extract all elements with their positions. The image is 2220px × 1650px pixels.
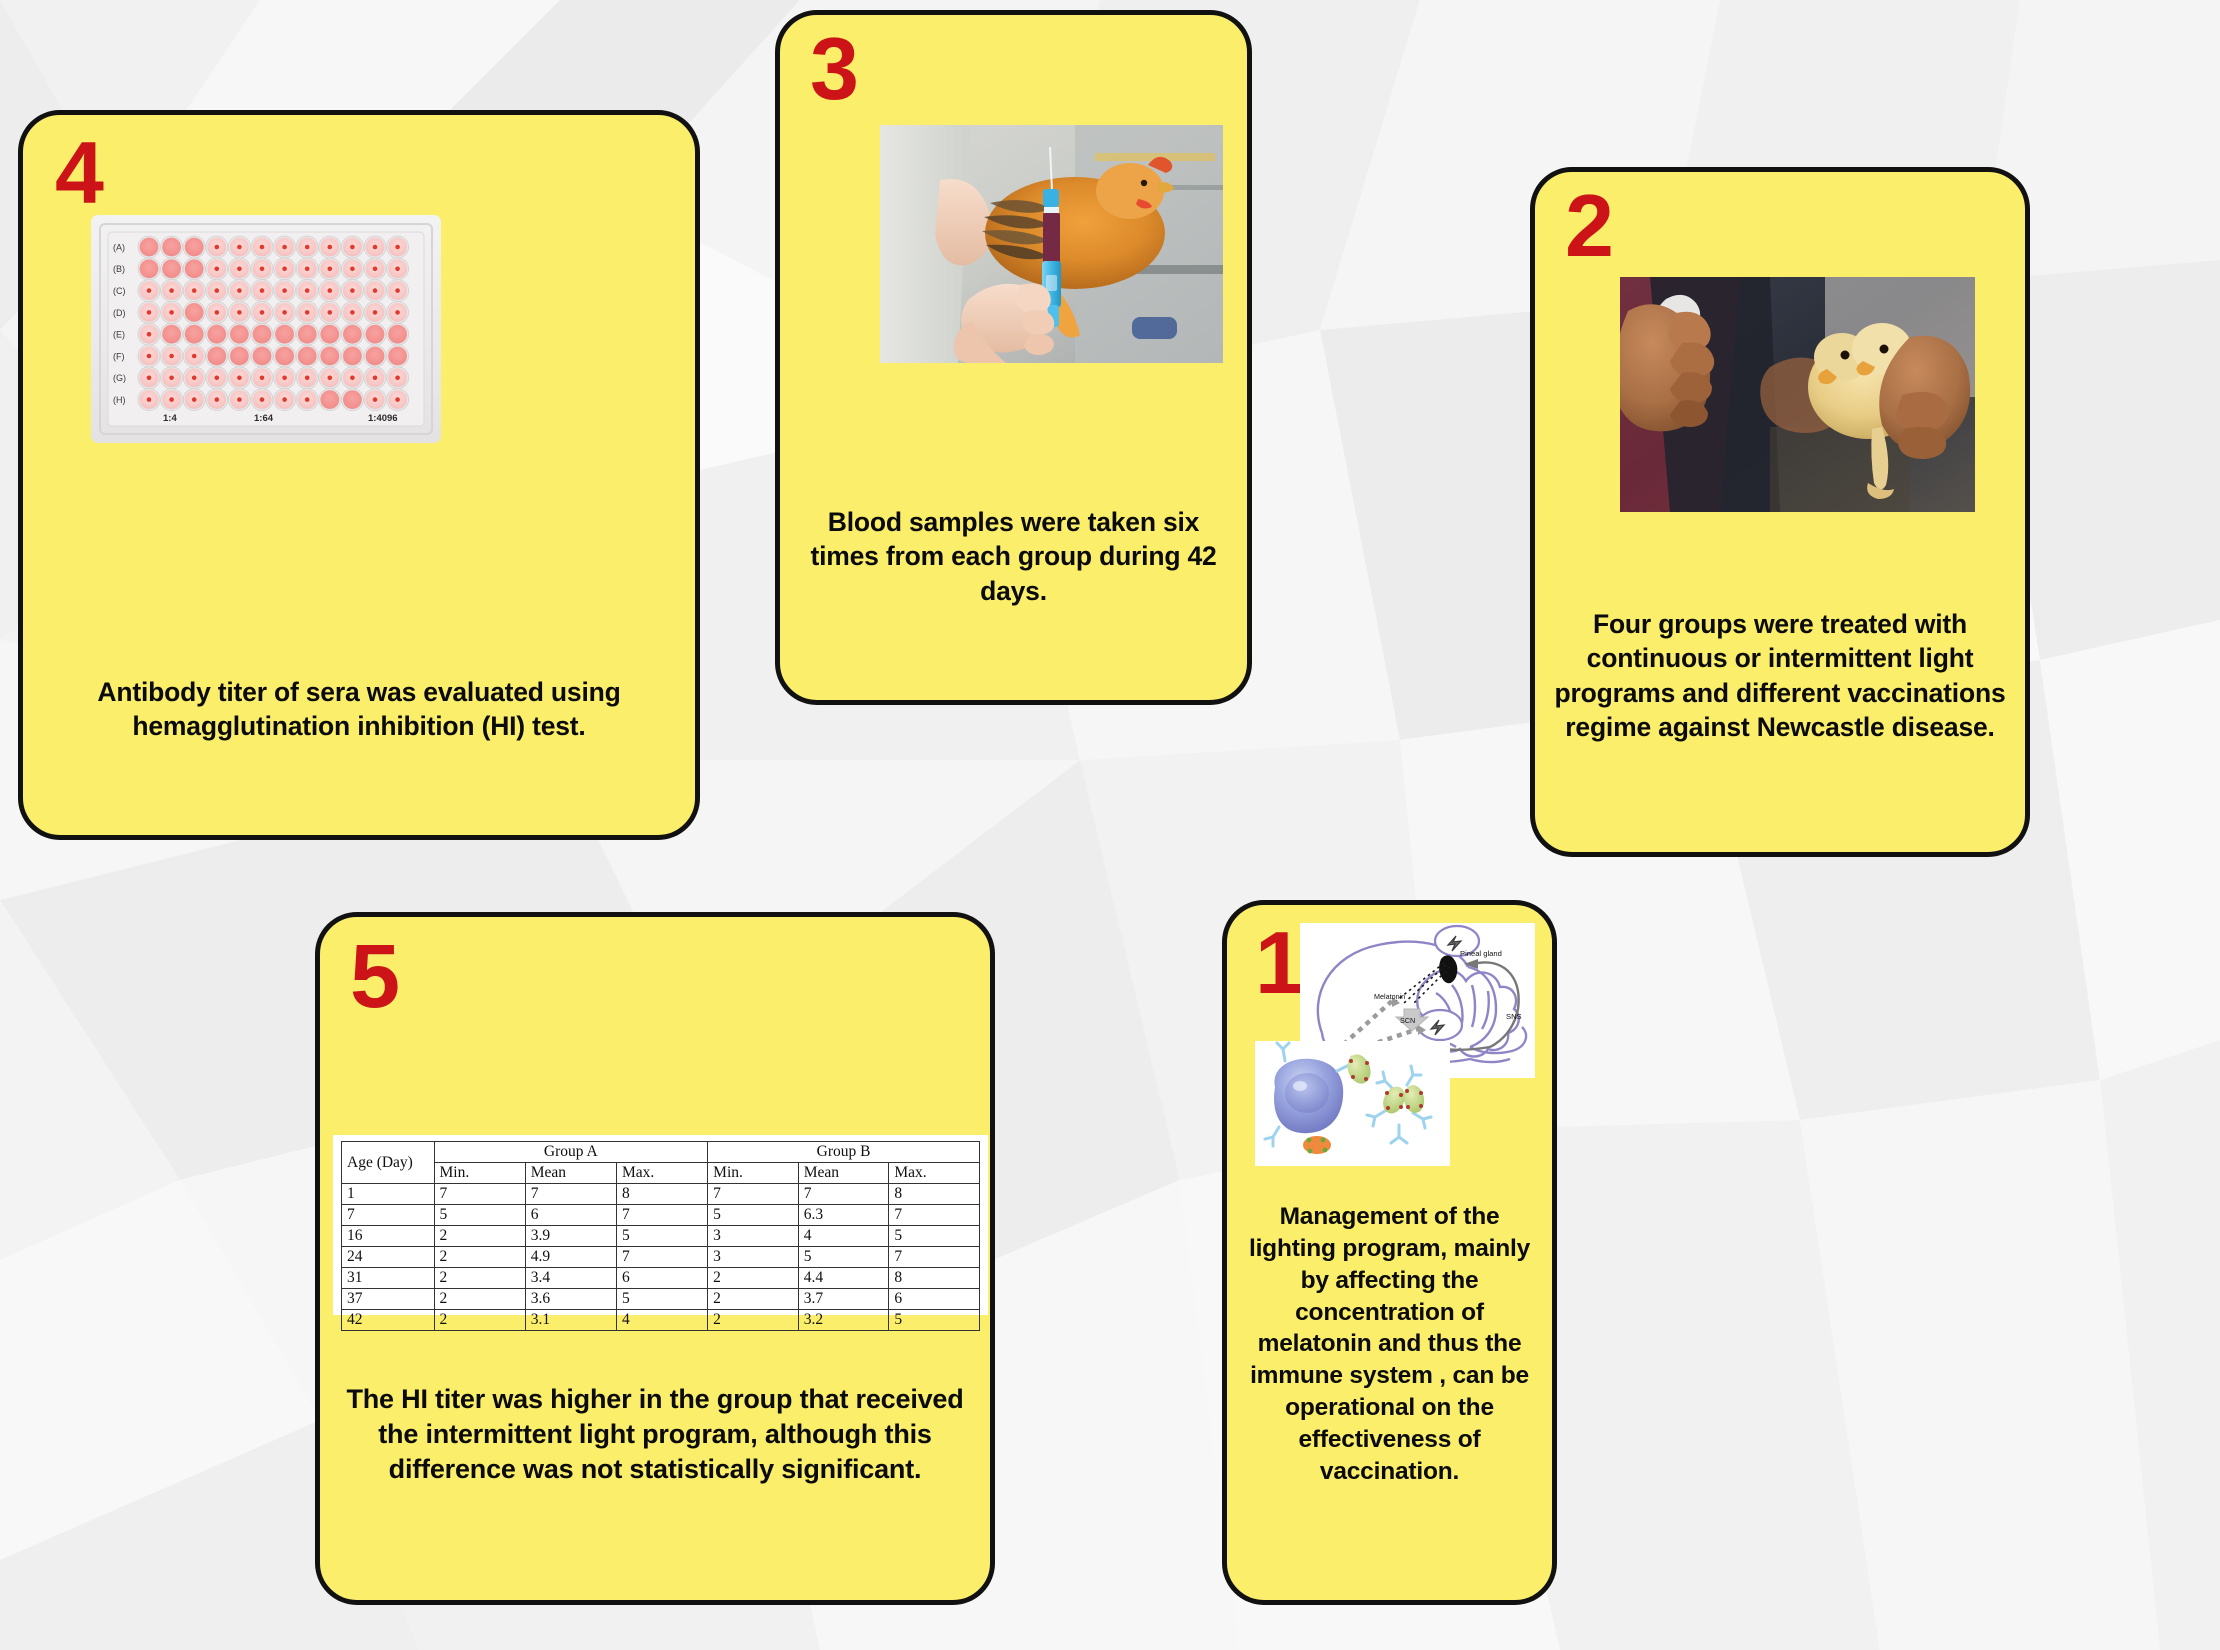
cell-a-mean: 3.1 <box>525 1310 616 1331</box>
plate-well-button <box>260 267 265 272</box>
cell-age: 1 <box>342 1184 435 1205</box>
cell-a-mean: 4.9 <box>525 1247 616 1268</box>
cell-b-min: 5 <box>708 1205 799 1226</box>
plate-row-label: (A) <box>113 242 125 252</box>
plate-well <box>207 325 226 344</box>
cell-b-mean: 6.3 <box>798 1205 889 1226</box>
card-5-caption: The HI titer was higher in the group tha… <box>320 1382 990 1487</box>
hi-titer-table-container: Age (Day) Group A Group B Min. Mean Max.… <box>333 1135 988 1315</box>
cell-b-mean: 3.7 <box>798 1289 889 1310</box>
cell-b-mean: 4 <box>798 1226 889 1247</box>
plate-well-button <box>373 310 378 315</box>
header-b-max: Max. <box>889 1163 980 1184</box>
cell-a-min: 5 <box>434 1205 525 1226</box>
plate-well-button <box>169 288 174 293</box>
plate-well-button <box>260 376 265 381</box>
cell-b-max: 6 <box>889 1289 980 1310</box>
plate-well-button <box>328 310 333 315</box>
plate-row-label: (B) <box>113 264 125 274</box>
plate-well-button <box>395 397 400 402</box>
plate-well <box>253 325 272 344</box>
cell-b-min: 2 <box>708 1310 799 1331</box>
plate-well-button <box>237 397 242 402</box>
plate-row-label: (E) <box>113 330 125 340</box>
card-4-caption: Antibody titer of sera was evaluated usi… <box>23 675 695 744</box>
cell-b-min: 3 <box>708 1247 799 1268</box>
plate-well-button <box>328 245 333 250</box>
plate-well <box>343 347 362 366</box>
cell-a-max: 5 <box>616 1226 707 1247</box>
cell-b-max: 7 <box>889 1205 980 1226</box>
plate-well-button <box>305 310 310 315</box>
cell-b-max: 7 <box>889 1247 980 1268</box>
card-3-caption: Blood samples were taken six times from … <box>780 505 1247 608</box>
plate-well-button <box>373 288 378 293</box>
plate-well-button <box>282 310 287 315</box>
plate-well-button <box>350 245 355 250</box>
card-number-1: 1 <box>1255 923 1304 1002</box>
plate-well-button <box>282 288 287 293</box>
plate-well <box>275 347 294 366</box>
plate-well-button <box>350 310 355 315</box>
plate-well <box>185 238 204 257</box>
cell-b-mean: 5 <box>798 1247 889 1268</box>
plate-well <box>320 390 339 409</box>
cell-a-min: 2 <box>434 1247 525 1268</box>
cell-a-min: 7 <box>434 1184 525 1205</box>
plate-well <box>343 390 362 409</box>
plate-well-button <box>350 267 355 272</box>
plate-well-button <box>147 354 152 359</box>
plate-well-button <box>147 310 152 315</box>
plate-well-button <box>215 310 220 315</box>
plate-well <box>162 238 181 257</box>
plate-well <box>343 325 362 344</box>
card-1-melatonin-pathway: 1 <box>1222 900 1557 1605</box>
cell-age: 37 <box>342 1289 435 1310</box>
plate-dilution-left: 1:4 <box>163 413 177 424</box>
plate-well <box>185 303 204 322</box>
plate-well <box>298 325 317 344</box>
header-a-min: Min. <box>434 1163 525 1184</box>
plate-well-button <box>305 397 310 402</box>
plate-well-button <box>169 354 174 359</box>
cell-a-mean: 7 <box>525 1184 616 1205</box>
plate-well-button <box>215 288 220 293</box>
plate-well-button <box>237 288 242 293</box>
card-1-caption: Management of the lighting program, main… <box>1227 1201 1552 1488</box>
label-scn: SCN <box>1400 1016 1415 1025</box>
card-3-blood-sampling: 3 <box>775 10 1252 705</box>
cell-a-mean: 6 <box>525 1205 616 1226</box>
plate-well-button <box>305 376 310 381</box>
plate-well-button <box>305 267 310 272</box>
card-number-3: 3 <box>810 29 859 108</box>
plate-row-label: (G) <box>113 373 126 383</box>
plate-well-button <box>305 245 310 250</box>
plate-well-button <box>305 288 310 293</box>
plate-well-button <box>237 267 242 272</box>
label-pineal-gland: Pineal gland <box>1460 949 1502 958</box>
plate-dilution-right: 1:4096 <box>368 413 398 424</box>
plate-well-button <box>215 245 220 250</box>
cell-b-min: 7 <box>708 1184 799 1205</box>
plate-well <box>388 325 407 344</box>
plate-well-button <box>395 267 400 272</box>
cell-b-min: 3 <box>708 1226 799 1247</box>
cell-a-mean: 3.6 <box>525 1289 616 1310</box>
header-group-a: Group A <box>434 1142 708 1163</box>
plate-well <box>185 325 204 344</box>
table-row: 756756.37 <box>342 1205 980 1226</box>
plate-well <box>230 325 249 344</box>
plate-well <box>320 347 339 366</box>
plate-well-button <box>282 376 287 381</box>
plate-well-button <box>147 397 152 402</box>
table-row: 2424.97357 <box>342 1247 980 1268</box>
plate-well-button <box>282 267 287 272</box>
cell-a-max: 4 <box>616 1310 707 1331</box>
table-row: 3123.4624.48 <box>342 1268 980 1289</box>
cell-age: 24 <box>342 1247 435 1268</box>
plate-well <box>162 259 181 278</box>
cell-age: 31 <box>342 1268 435 1289</box>
plate-well-button <box>328 267 333 272</box>
plate-well-button <box>169 397 174 402</box>
lymphocyte-cell <box>1274 1059 1343 1133</box>
cell-b-max: 8 <box>889 1268 980 1289</box>
table-row: 1623.95345 <box>342 1226 980 1247</box>
label-melatonin: Melatonin <box>1374 992 1405 1001</box>
plate-well-button <box>192 397 197 402</box>
plate-well-button <box>395 245 400 250</box>
card-5-results: 5 Age (Day) Group A Group B Min. Mean Ma… <box>315 912 995 1605</box>
cell-a-min: 2 <box>434 1268 525 1289</box>
blood-sampling-chicken-photo <box>880 125 1223 363</box>
cell-b-mean: 7 <box>798 1184 889 1205</box>
cell-age: 42 <box>342 1310 435 1331</box>
plate-well <box>388 347 407 366</box>
hi-titer-table: Age (Day) Group A Group B Min. Mean Max.… <box>341 1141 980 1331</box>
plate-well-button <box>192 288 197 293</box>
table-header-row-groups: Age (Day) Group A Group B <box>342 1142 980 1163</box>
plate-well <box>162 325 181 344</box>
plate-well <box>140 259 159 278</box>
plate-well-button <box>237 376 242 381</box>
header-age: Age (Day) <box>342 1142 435 1184</box>
cell-a-min: 2 <box>434 1310 525 1331</box>
table-header-row-sub: Min. Mean Max. Min. Mean Max. <box>342 1163 980 1184</box>
chick-eye-drop-vaccination-photo <box>1620 277 1975 512</box>
plate-dilution-middle: 1:64 <box>254 413 274 424</box>
cell-a-max: 7 <box>616 1247 707 1268</box>
plate-well-button <box>260 245 265 250</box>
plate-well-button <box>350 288 355 293</box>
plate-row-label: (D) <box>113 308 126 318</box>
table-row: 4223.1423.25 <box>342 1310 980 1331</box>
plate-well <box>253 347 272 366</box>
plate-well <box>275 325 294 344</box>
plate-well-button <box>237 310 242 315</box>
card-number-5: 5 <box>350 937 400 1018</box>
label-sns: SNS <box>1506 1012 1522 1021</box>
plate-well-button <box>328 288 333 293</box>
plate-well-button <box>282 245 287 250</box>
plate-well-button <box>395 310 400 315</box>
cell-a-min: 2 <box>434 1226 525 1247</box>
microtiter-plate-svg: (A)(B)(C)(D)(E)(F)(G)(H) 1:4 1:64 1:4096 <box>91 215 441 443</box>
plate-well <box>140 238 159 257</box>
plate-well <box>366 347 385 366</box>
plate-well <box>366 325 385 344</box>
cell-age: 16 <box>342 1226 435 1247</box>
plate-well <box>185 259 204 278</box>
plate-well-button <box>147 332 152 337</box>
plate-row-label: (C) <box>113 286 126 296</box>
plate-well-button <box>192 376 197 381</box>
cell-b-max: 5 <box>889 1226 980 1247</box>
cell-a-mean: 3.9 <box>525 1226 616 1247</box>
plate-well-button <box>373 376 378 381</box>
cell-b-max: 8 <box>889 1184 980 1205</box>
cell-b-max: 5 <box>889 1310 980 1331</box>
cell-a-max: 8 <box>616 1184 707 1205</box>
cell-b-mean: 4.4 <box>798 1268 889 1289</box>
microtiter-plate-figure: (A)(B)(C)(D)(E)(F)(G)(H) 1:4 1:64 1:4096 <box>91 215 441 443</box>
cell-a-max: 7 <box>616 1205 707 1226</box>
cell-a-max: 6 <box>616 1268 707 1289</box>
plate-well <box>320 325 339 344</box>
plate-well-button <box>215 376 220 381</box>
plate-row-label: (F) <box>113 351 125 361</box>
plate-well-button <box>192 354 197 359</box>
plate-well-button <box>260 310 265 315</box>
immune-cells-svg <box>1255 1041 1450 1166</box>
chick-vaccination-illustration <box>1620 277 1975 512</box>
plate-well-button <box>282 397 287 402</box>
card-4-hi-test: 4 <box>18 110 700 840</box>
plate-well-button <box>260 397 265 402</box>
header-a-max: Max. <box>616 1163 707 1184</box>
cell-a-mean: 3.4 <box>525 1268 616 1289</box>
table-row: 1778778 <box>342 1184 980 1205</box>
plate-well-button <box>215 267 220 272</box>
plate-well-button <box>147 288 152 293</box>
plate-well-button <box>350 376 355 381</box>
plate-well-button <box>169 376 174 381</box>
cell-b-min: 2 <box>708 1289 799 1310</box>
plate-well-button <box>215 397 220 402</box>
plate-well-button <box>147 376 152 381</box>
plate-well-button <box>373 267 378 272</box>
cell-age: 7 <box>342 1205 435 1226</box>
plate-well <box>230 347 249 366</box>
plate-well-button <box>395 376 400 381</box>
blood-sampling-illustration <box>880 125 1223 363</box>
cell-a-min: 2 <box>434 1289 525 1310</box>
lymphocyte-antibody-illustration <box>1255 1041 1450 1166</box>
cell-b-mean: 3.2 <box>798 1310 889 1331</box>
cell-a-max: 5 <box>616 1289 707 1310</box>
card-number-4: 4 <box>55 133 104 212</box>
plate-well-button <box>395 288 400 293</box>
cell-b-min: 2 <box>708 1268 799 1289</box>
plate-well-button <box>373 245 378 250</box>
plate-well <box>298 347 317 366</box>
header-group-b: Group B <box>708 1142 980 1163</box>
header-b-min: Min. <box>708 1163 799 1184</box>
card-2-treatment-groups: 2 <box>1530 167 2030 857</box>
plate-well-button <box>169 310 174 315</box>
card-2-caption: Four groups were treated with continuous… <box>1535 607 2025 745</box>
plate-well-button <box>260 288 265 293</box>
table-row: 3723.6523.76 <box>342 1289 980 1310</box>
plate-well-button <box>373 397 378 402</box>
plate-well-button <box>237 245 242 250</box>
plate-row-label: (H) <box>113 395 126 405</box>
plate-well-button <box>328 376 333 381</box>
card-number-2: 2 <box>1565 186 1614 265</box>
plate-well <box>207 347 226 366</box>
header-a-mean: Mean <box>525 1163 616 1184</box>
header-b-mean: Mean <box>798 1163 889 1184</box>
